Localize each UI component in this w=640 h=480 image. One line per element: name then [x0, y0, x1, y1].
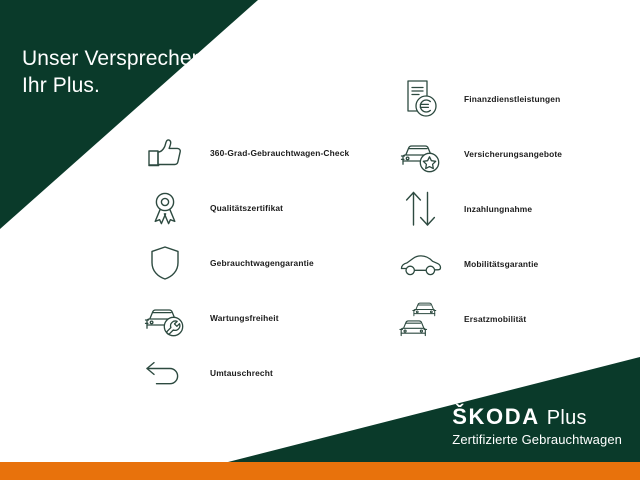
arrows-up-down-icon: [398, 186, 444, 232]
feature-label: Inzahlungnahme: [464, 204, 532, 214]
car-star-icon: [398, 131, 444, 177]
thumbs-up-icon: [142, 130, 188, 176]
return-arrow-icon: [142, 350, 188, 396]
headline-line1: Unser Versprechen.: [22, 47, 209, 70]
document-euro-icon: [398, 76, 444, 122]
orange-bar: [0, 462, 640, 480]
feature-item: Qualitätszertifikat: [142, 181, 372, 235]
headline: Unser Versprechen. Ihr Plus.: [22, 18, 209, 126]
feature-label: Ersatzmobilität: [464, 314, 526, 324]
feature-item: Inzahlungnahme: [398, 182, 628, 236]
feature-item: Wartungsfreiheit: [142, 291, 372, 345]
feature-item: Finanzdienstleistungen: [398, 72, 628, 126]
feature-label: Versicherungsangebote: [464, 149, 562, 159]
feature-item: Umtauschrecht: [142, 346, 372, 400]
feature-label: Mobilitätsgarantie: [464, 259, 538, 269]
feature-item: Mobilitätsgarantie: [398, 237, 628, 291]
feature-label: Finanzdienstleistungen: [464, 94, 560, 104]
two-cars-icon: [398, 296, 444, 342]
feature-list-left: 360-Grad-Gebrauchtwagen-Check Qualitätsz…: [142, 126, 372, 401]
headline-line2: Ihr Plus.: [22, 72, 209, 99]
feature-item: 360-Grad-Gebrauchtwagen-Check: [142, 126, 372, 180]
skoda-wordmark: ŠKODA: [452, 405, 539, 429]
feature-label: Gebrauchtwagengarantie: [210, 258, 314, 268]
promo-banner: Unser Versprechen. Ihr Plus. 360-Grad-Ge…: [0, 0, 640, 480]
feature-label: Wartungsfreiheit: [210, 313, 279, 323]
logo-tagline: Zertifizierte Gebrauchtwagen: [452, 431, 622, 448]
plus-wordmark: Plus: [547, 406, 587, 430]
feature-item: Gebrauchtwagengarantie: [142, 236, 372, 290]
feature-list-right: Finanzdienstleistungen Versicherungsange…: [398, 72, 628, 347]
feature-label: 360-Grad-Gebrauchtwagen-Check: [210, 148, 349, 158]
logo-wordmark-row: ŠKODA Plus: [452, 405, 622, 430]
feature-label: Qualitätszertifikat: [210, 203, 283, 213]
shield-icon: [142, 240, 188, 286]
feature-item: Ersatzmobilität: [398, 292, 628, 346]
car-side-icon: [398, 241, 444, 287]
skoda-plus-logo: ŠKODA Plus Zertifizierte Gebrauchtwagen: [452, 405, 622, 448]
car-wrench-icon: [142, 295, 188, 341]
feature-label: Umtauschrecht: [210, 368, 273, 378]
award-rosette-icon: [142, 185, 188, 231]
feature-item: Versicherungsangebote: [398, 127, 628, 181]
